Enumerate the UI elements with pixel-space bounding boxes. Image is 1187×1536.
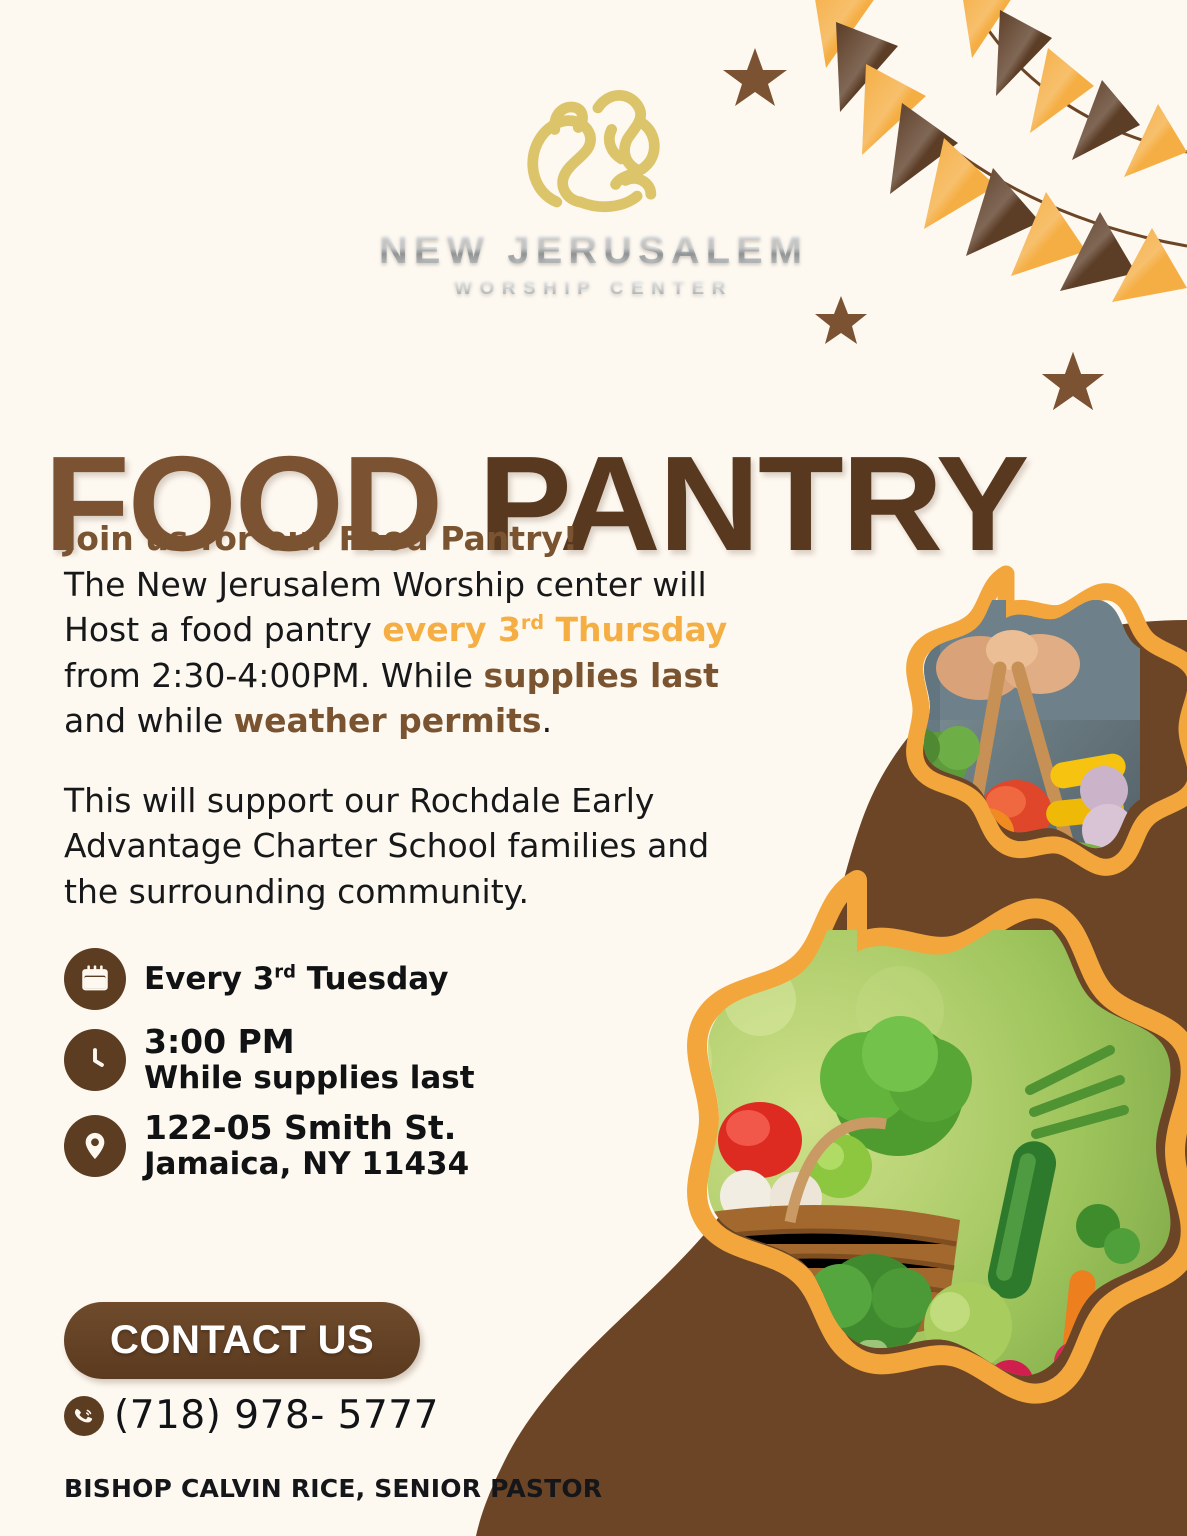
detail-address-text: 122-05 Smith St. Jamaica, NY 11434 (144, 1110, 469, 1182)
contact-us-button[interactable]: CONTACT US (64, 1302, 420, 1379)
detail-row-date: Every 3rd Tuesday (64, 948, 475, 1010)
highlight-every-third-thursday: every 3rd Thursday (382, 610, 727, 649)
star-icon (1042, 352, 1104, 410)
event-details: Every 3rd Tuesday 3:00 PM While supplies… (64, 948, 475, 1195)
detail-row-time: 3:00 PM While supplies last (64, 1024, 475, 1096)
lede-line: Join us for our Food Pantry! (64, 516, 764, 562)
church-logo: NEW JERUSALEM WORSHIP CENTER (0, 78, 1187, 298)
detail-date-text: Every 3rd Tuesday (144, 962, 448, 997)
phone-row[interactable]: (718) 978- 5777 (64, 1393, 439, 1438)
photo-top-vegetable-basket (880, 574, 1187, 940)
calendar-icon (64, 948, 126, 1010)
logo-subtitle: WORSHIP CENTER (454, 279, 733, 298)
highlight-weather-permits: weather permits (234, 701, 542, 740)
food-pantry-flyer: NEW JERUSALEM WORSHIP CENTER FOOD PANTRY… (0, 0, 1187, 1536)
location-pin-icon (64, 1115, 126, 1177)
phone-ringing-icon (64, 1396, 104, 1436)
star-icon (1042, 352, 1104, 410)
clock-icon (64, 1029, 126, 1091)
paragraph-2: This will support our Rochdale Early Adv… (64, 778, 764, 915)
highlight-supplies-last: supplies last (483, 656, 719, 695)
pastor-name: BISHOP CALVIN RICE, SENIOR PASTOR (64, 1474, 602, 1503)
detail-time-text: 3:00 PM While supplies last (144, 1024, 475, 1096)
star-icon (815, 296, 867, 344)
paragraph-1: The New Jerusalem Worship center will Ho… (64, 565, 727, 741)
phone-number[interactable]: (718) 978- 5777 (114, 1393, 439, 1438)
detail-row-address: 122-05 Smith St. Jamaica, NY 11434 (64, 1110, 475, 1182)
logo-name: NEW JERUSALEM (379, 230, 808, 270)
body-copy: Join us for our Food Pantry! The New Jer… (64, 516, 764, 914)
flame-dove-logo-icon (496, 78, 692, 226)
photo-bottom-vegetable-spread (560, 880, 1187, 1536)
